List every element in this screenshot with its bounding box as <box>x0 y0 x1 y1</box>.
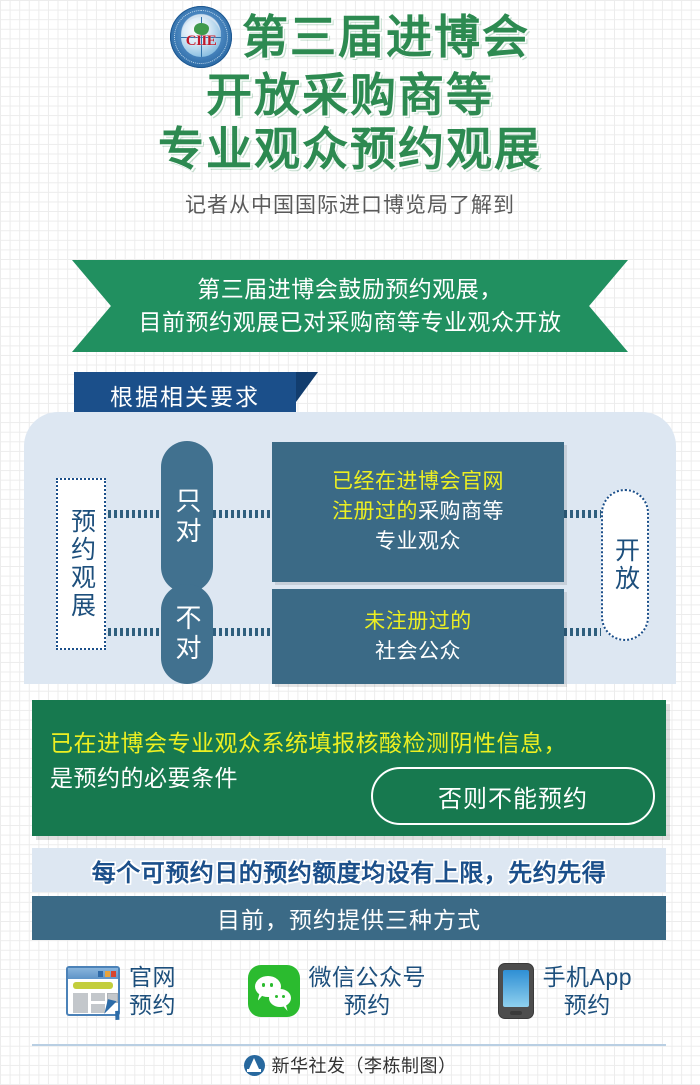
diagram-target-label: 开放 <box>613 537 638 593</box>
diagram-connector-not-for-label: 不对 <box>174 604 200 664</box>
method-1-label-line2: 预约 <box>129 991 176 1019</box>
connector-line-top-left <box>108 510 161 518</box>
browser-address-bar <box>73 982 113 989</box>
connector-line-bottom-mid <box>213 628 272 636</box>
ciie-logo-icon: CIIE <box>170 6 232 68</box>
wechat-icon <box>248 965 300 1017</box>
method-3-label-line2: 预约 <box>543 991 632 1019</box>
lead-ribbon-banner: 第三届进博会鼓励预约观展， 目前预约观展已对采购商等专业观众开放 <box>72 260 628 352</box>
ribbon-line-2: 目前预约观展已对采购商等专业观众开放 <box>139 306 562 339</box>
diagram-card-unregistered-public: 未注册过的 社会公众 <box>272 589 564 684</box>
ribbon-line-1: 第三届进博会鼓励预约观展， <box>197 273 503 306</box>
methods-row: 官网 预约 微信公众号 预约 手机App 预约 <box>32 948 666 1034</box>
card1-line-2-yellow: 注册过的 <box>332 500 418 523</box>
page-subtitle: 记者从中国国际进口博览局了解到 <box>185 189 515 219</box>
card1-line-1: 已经在进博会官网 <box>332 467 504 497</box>
condition-line-1: 已在进博会专业观众系统填报核酸检测阴性信息， <box>50 726 666 761</box>
condition-consequence-pill: 否则不能预约 <box>371 767 655 825</box>
diagram-card-registered-buyers: 已经在进博会官网 注册过的采购商等 专业观众 <box>272 442 564 582</box>
phone-home-button <box>510 1011 522 1015</box>
card1-line-2: 注册过的采购商等 <box>332 497 504 527</box>
connector-line-bottom-left <box>108 628 161 636</box>
mouse-cursor-icon <box>104 999 116 1016</box>
mobile-phone-icon <box>498 963 534 1019</box>
browser-window-icon <box>66 966 120 1016</box>
method-mobile-app[interactable]: 手机App 预约 <box>498 963 632 1019</box>
section-tab-label: 根据相关要求 <box>110 378 260 412</box>
method-label-mobile-app: 手机App 预约 <box>543 963 632 1019</box>
card2-line-2: 社会公众 <box>375 637 461 667</box>
condition-consequence-label: 否则不能预约 <box>438 779 588 814</box>
browser-content-block-3 <box>91 1004 105 1013</box>
diagram-source-box: 预约观展 <box>56 478 106 650</box>
method-wechat-account[interactable]: 微信公众号 预约 <box>248 963 427 1019</box>
methods-header-band: 目前，预约提供三种方式 <box>32 896 666 940</box>
xinhua-logo-icon <box>244 1055 265 1076</box>
infographic-page: CIIE 第三届进博会 开放采购商等 专业观众预约观展 记者从中国国际进口博览局… <box>0 0 700 1085</box>
methods-header-text: 目前，预约提供三种方式 <box>217 901 481 935</box>
diagram-connector-only-for: 只对 <box>161 441 213 593</box>
method-3-label-line1: 手机App <box>543 964 632 990</box>
diagram-source-label: 预约观展 <box>69 508 94 620</box>
wechat-bubble-small <box>269 989 291 1007</box>
page-title-line3: 专业观众预约观展 <box>158 122 542 176</box>
ciie-logo-letters: CIIE <box>170 33 232 50</box>
diagram-connector-not-for: 不对 <box>161 584 213 684</box>
method-label-official-website: 官网 预约 <box>129 963 176 1019</box>
browser-content-block-2 <box>91 993 105 1001</box>
footer-divider <box>32 1044 666 1046</box>
card1-line-3: 专业观众 <box>375 527 461 557</box>
page-title-line2: 开放采购商等 <box>206 68 494 122</box>
header: CIIE 第三届进博会 开放采购商等 专业观众预约观展 记者从中国国际进口博览局… <box>0 6 700 219</box>
browser-window-buttons <box>98 971 116 977</box>
browser-content-block-1 <box>73 993 88 1013</box>
diagram-target-box: 开放 <box>601 489 649 641</box>
page-title-line1: 第三届进博会 <box>242 10 530 64</box>
method-2-label-line2: 预约 <box>309 991 427 1019</box>
method-official-website[interactable]: 官网 预约 <box>66 963 176 1019</box>
method-2-label-line1: 微信公众号 <box>309 964 427 990</box>
connector-line-bottom-right <box>564 628 601 636</box>
connector-line-top-right <box>564 510 601 518</box>
connector-line-top-mid <box>213 510 272 518</box>
section-tab-fold <box>296 372 318 402</box>
method-label-wechat: 微信公众号 预约 <box>309 963 427 1019</box>
card1-line-2-white: 采购商等 <box>418 500 504 523</box>
footer-credit-text: 新华社发（李栋制图） <box>272 1052 457 1078</box>
quota-text: 每个可预约日的预约额度均设有上限，先约先得 <box>92 853 607 888</box>
method-1-label-line1: 官网 <box>129 964 176 990</box>
quota-band: 每个可预约日的预约额度均设有上限，先约先得 <box>32 848 666 892</box>
card2-line-1: 未注册过的 <box>364 607 472 637</box>
title-row: CIIE 第三届进博会 <box>170 6 530 68</box>
phone-screen <box>503 970 529 1007</box>
footer: 新华社发（李栋制图） <box>0 1052 700 1078</box>
diagram-connector-only-for-label: 只对 <box>174 487 200 547</box>
